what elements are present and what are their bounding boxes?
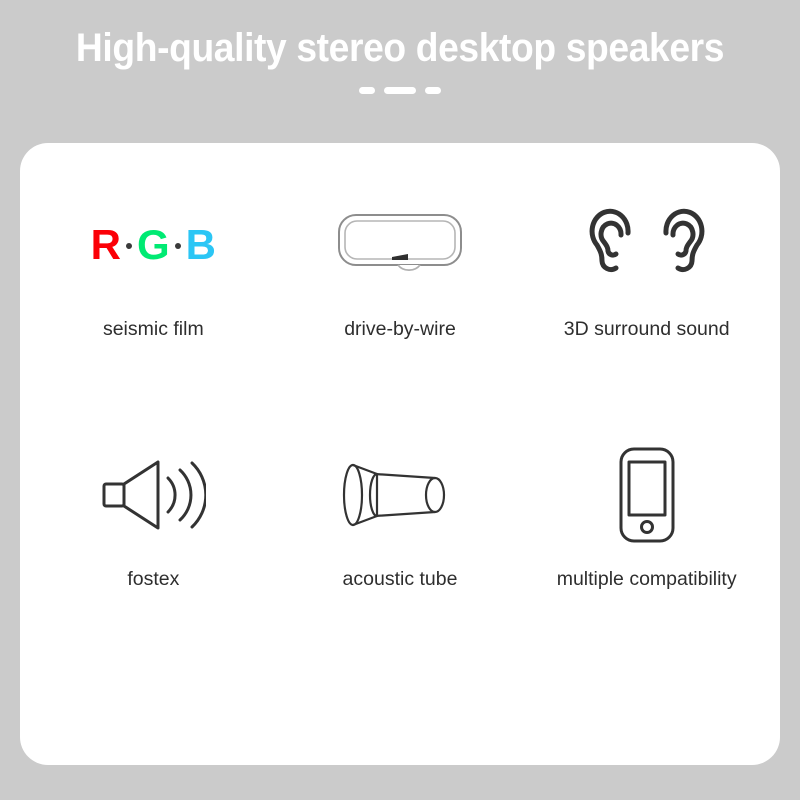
ears-icon (584, 195, 710, 295)
divider-dash-left (359, 87, 375, 94)
feature-label-seismic-film: seismic film (103, 317, 204, 341)
divider-dash-right (425, 87, 441, 94)
feature-label-acoustic-tube: acoustic tube (343, 567, 458, 591)
feature-item-surround-sound: 3D surround sound (523, 195, 770, 445)
feature-item-fostex: fostex (30, 445, 277, 695)
rgb-icon: R G B (91, 195, 216, 295)
feature-label-fostex: fostex (127, 567, 179, 591)
page-title: High-quality stereo desktop speakers (28, 0, 772, 75)
feature-label-multiple-compatibility: multiple compatibility (557, 567, 737, 591)
rgb-letter-g: G (137, 224, 170, 266)
soundbar-icon (335, 195, 465, 295)
rgb-dot-1 (126, 243, 132, 249)
smartphone-icon (615, 445, 679, 545)
feature-item-acoustic-tube: acoustic tube (277, 445, 524, 695)
rgb-dot-2 (175, 243, 181, 249)
feature-item-drive-by-wire: drive-by-wire (277, 195, 524, 445)
product-feature-page: High-quality stereo desktop speakers R G… (0, 0, 800, 800)
title-divider (0, 87, 800, 94)
divider-dash-center (384, 87, 416, 94)
feature-card: R G B seismic film (20, 143, 780, 765)
feature-grid: R G B seismic film (20, 143, 780, 765)
page-header: High-quality stereo desktop speakers (0, 0, 800, 143)
speaker-waves-icon (100, 445, 206, 545)
feature-item-seismic-film: R G B seismic film (30, 195, 277, 445)
feature-item-multiple-compatibility: multiple compatibility (523, 445, 770, 695)
rgb-letter-r: R (91, 224, 121, 266)
feature-label-surround-sound: 3D surround sound (564, 317, 730, 341)
feature-label-drive-by-wire: drive-by-wire (344, 317, 456, 341)
rgb-letter-b: B (186, 224, 216, 266)
acoustic-tube-icon (339, 445, 461, 545)
